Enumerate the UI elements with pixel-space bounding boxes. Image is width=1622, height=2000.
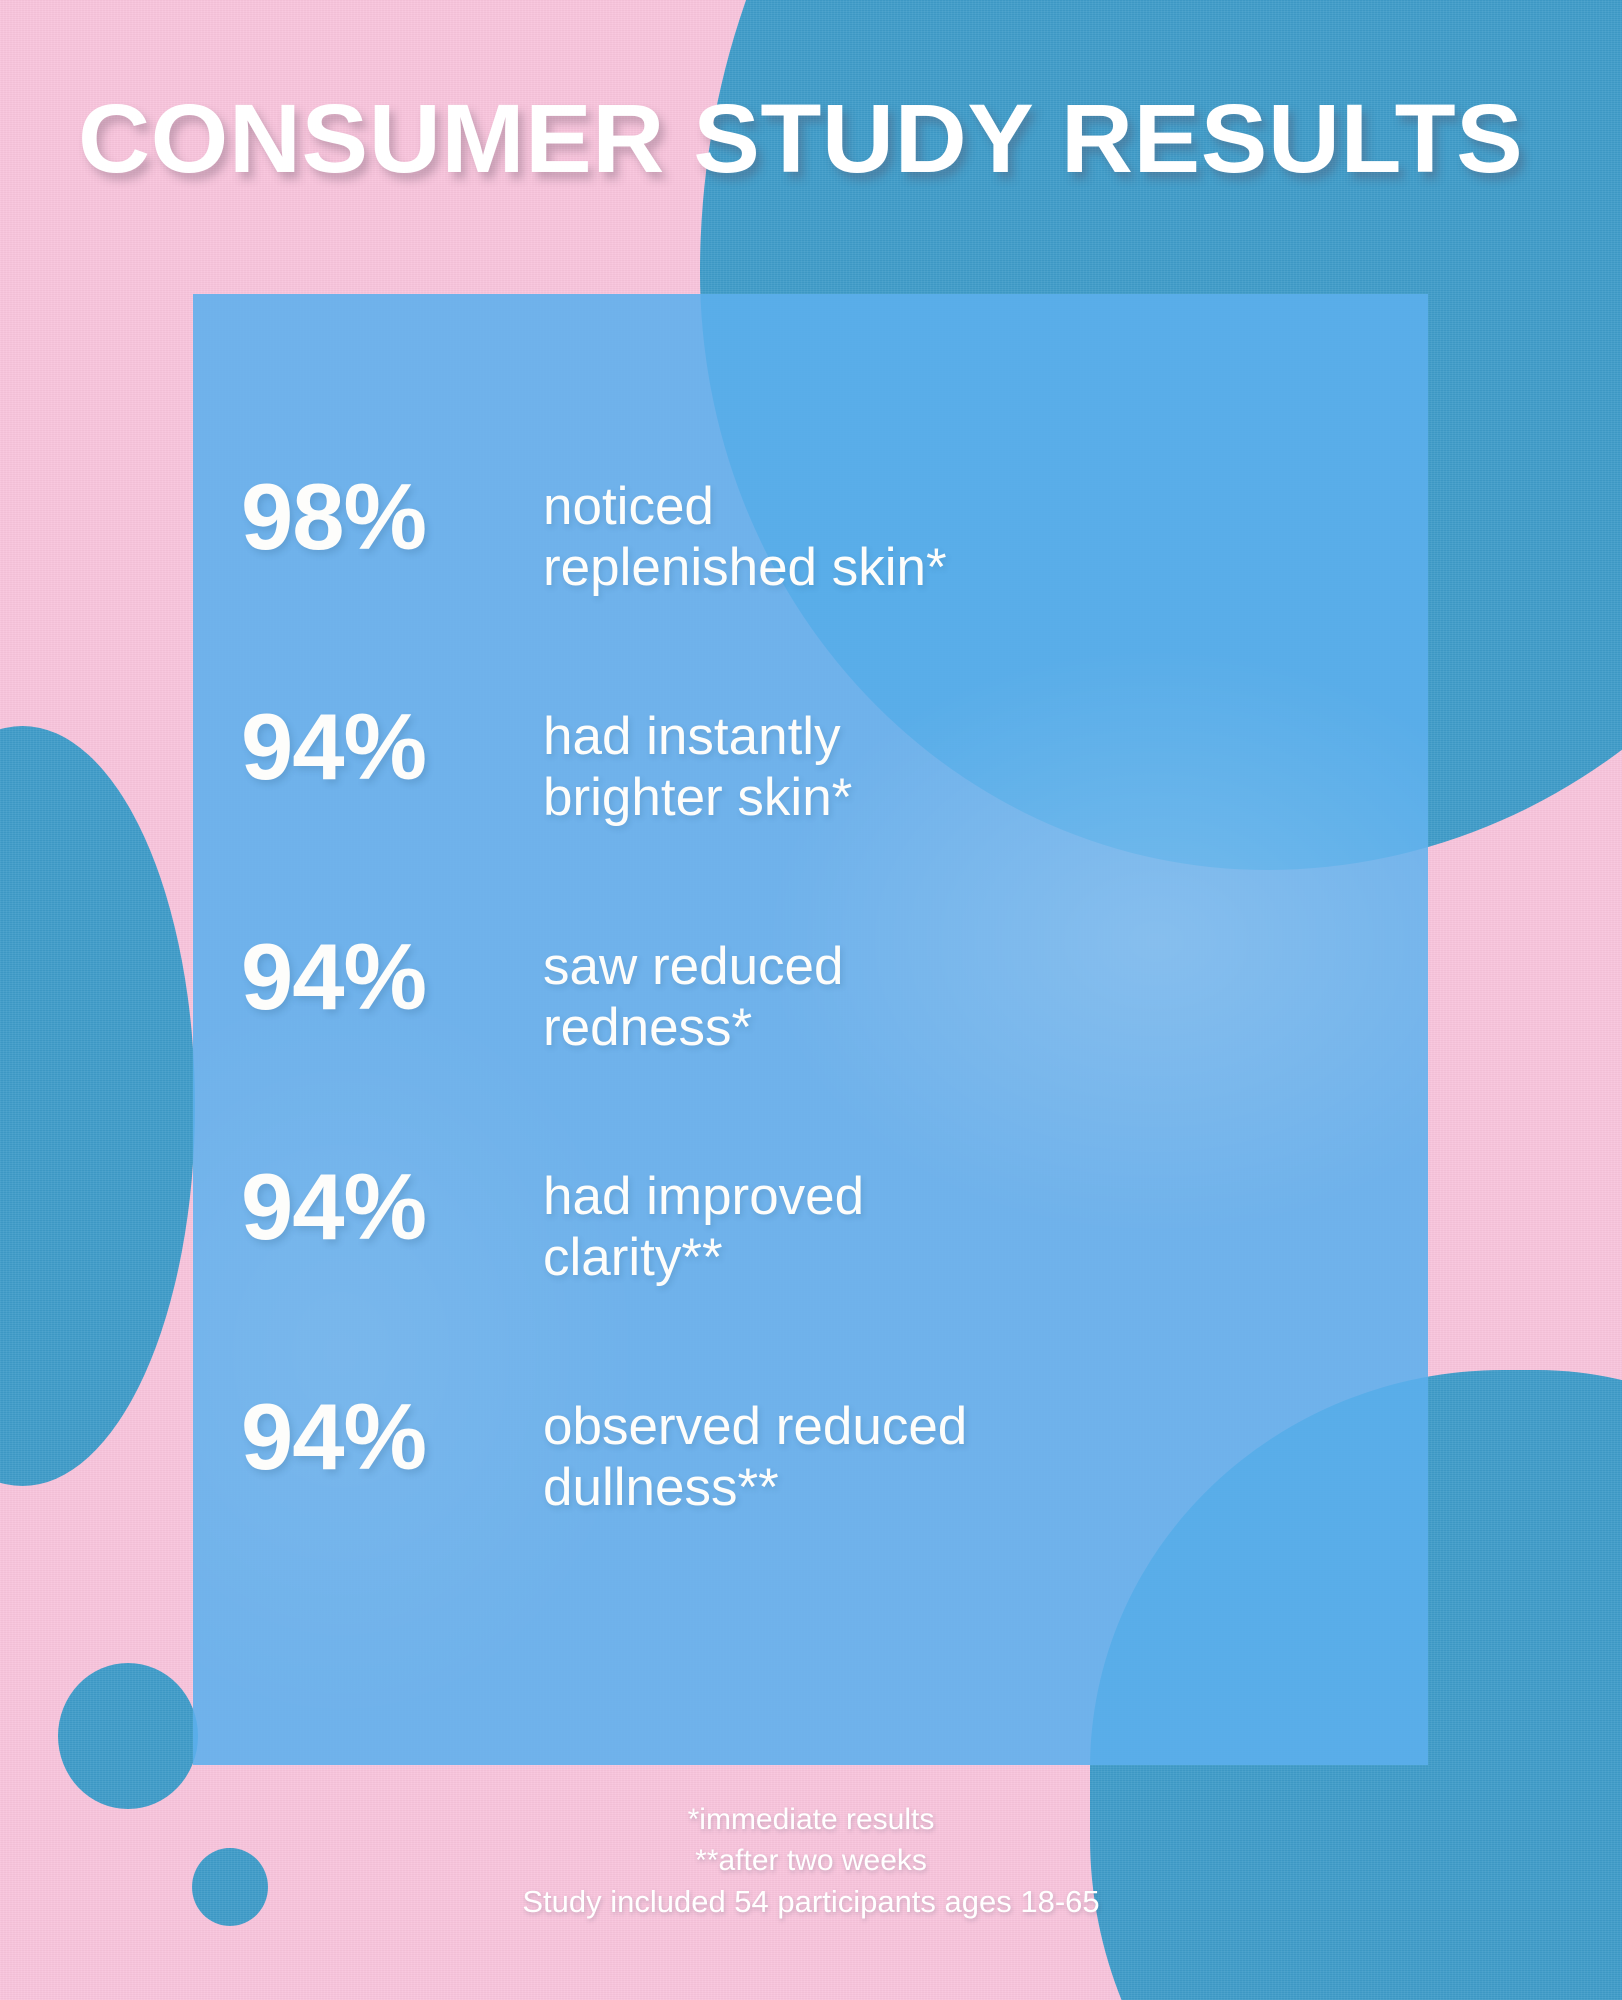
stat-description-line: saw reduced [543, 936, 1428, 997]
stat-percentage: 94% [193, 1390, 543, 1484]
footnote-after-two-weeks: **after two weeks [0, 1841, 1622, 1882]
stat-percentage: 94% [193, 1160, 543, 1254]
blob-circle-medium [58, 1663, 198, 1809]
stat-percentage: 98% [193, 470, 543, 564]
stat-description: had instantly brighter skin* [543, 700, 1428, 829]
stat-description: noticed replenished skin* [543, 470, 1428, 599]
footnote-study-participants: Study included 54 participants ages 18-6… [0, 1881, 1622, 1923]
stat-percentage: 94% [193, 700, 543, 794]
page-title: CONSUMER STUDY RESULTS [78, 83, 1523, 195]
stat-row: 94% saw reduced redness* [193, 930, 1428, 1059]
stat-description-line: had instantly [543, 706, 1428, 767]
stat-description-line: dullness** [543, 1457, 1428, 1518]
stat-description-line: redness* [543, 997, 1428, 1058]
stat-description: had improved clarity** [543, 1160, 1428, 1289]
stat-percentage: 94% [193, 930, 543, 1024]
stat-description-line: brighter skin* [543, 767, 1428, 828]
blob-left-ellipse [0, 726, 195, 1486]
stat-row: 94% observed reduced dullness** [193, 1390, 1428, 1519]
stat-row: 94% had instantly brighter skin* [193, 700, 1428, 829]
stat-description: saw reduced redness* [543, 930, 1428, 1059]
stat-description-line: replenished skin* [543, 537, 1428, 598]
stat-description-line: clarity** [543, 1227, 1428, 1288]
stat-description-line: observed reduced [543, 1396, 1428, 1457]
stat-row: 94% had improved clarity** [193, 1160, 1428, 1289]
stat-description: observed reduced dullness** [543, 1390, 1428, 1519]
stats-list: 98% noticed replenished skin* 94% had in… [193, 294, 1428, 1765]
stat-description-line: had improved [543, 1166, 1428, 1227]
stat-row: 98% noticed replenished skin* [193, 470, 1428, 599]
stat-description-line: noticed [543, 476, 1428, 537]
footnotes: *immediate results **after two weeks Stu… [0, 1800, 1622, 1923]
footnote-immediate-results: *immediate results [0, 1800, 1622, 1841]
poster-canvas: CONSUMER STUDY RESULTS 98% noticed reple… [0, 0, 1622, 2000]
